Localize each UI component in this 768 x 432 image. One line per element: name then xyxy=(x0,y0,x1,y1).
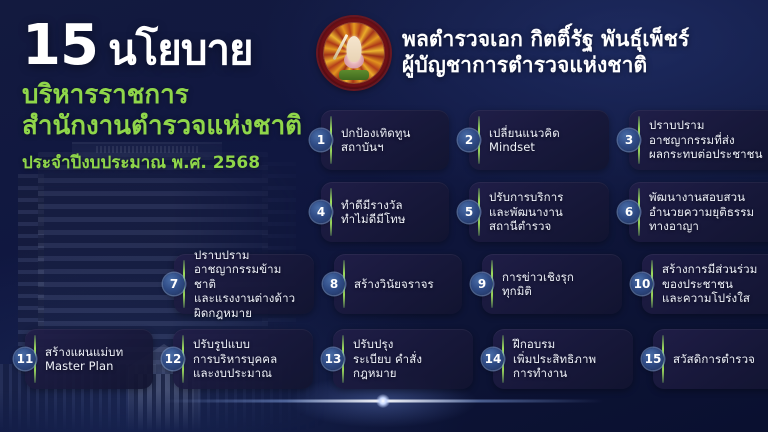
policy-card[interactable]: พัฒนางานสอบสวน อำนวยความยุติธรรม ทางอาญา xyxy=(629,182,768,242)
policy-item-8[interactable]: 8 สร้างวินัยจราจร xyxy=(323,254,462,314)
policy-title-word: นโยบาย xyxy=(108,29,253,71)
policy-number-badge: 5 xyxy=(458,201,480,223)
commander-header: พลตำรวจเอก กิตติ์รัฐ พันธุ์เพ็ชร์ ผู้บัญ… xyxy=(318,17,689,89)
lens-flare-core xyxy=(376,394,390,408)
policy-item-1[interactable]: 1 ปกป้องเทิดทูน สถาบันฯ xyxy=(310,110,449,170)
policy-item-5[interactable]: 5 ปรับการบริการ และพัฒนางาน สถานีตำรวจ xyxy=(458,182,609,242)
policy-card[interactable]: การข่าวเชิงรุก ทุกมิติ xyxy=(482,254,622,314)
policy-number-badge: 15 xyxy=(642,348,664,370)
policy-number-badge: 4 xyxy=(310,201,332,223)
policy-item-4[interactable]: 4 ทำดีมีรางวัล ทำไม่ดีมีโทษ xyxy=(310,182,449,242)
title-subtitle-line-2: สำนักงานตำรวจแห่งชาติ xyxy=(22,111,322,142)
policy-card[interactable]: ปกป้องเทิดทูน สถาบันฯ xyxy=(321,110,449,170)
commander-name: พลตำรวจเอก กิตติ์รัฐ พันธุ์เพ็ชร์ xyxy=(402,27,689,53)
policy-card[interactable]: สวัสดิการตำรวจ xyxy=(653,329,768,389)
policy-item-10[interactable]: 10 สร้างการมีส่วนร่วม ของประชาชน และความ… xyxy=(631,254,768,314)
emblem-outer-ring xyxy=(320,19,388,87)
policy-item-2[interactable]: 2 เปลี่ยนแนวคิด Mindset xyxy=(458,110,609,170)
policy-card[interactable]: สร้างการมีส่วนร่วม ของประชาชน และความโปร… xyxy=(642,254,768,314)
lens-flare-streak xyxy=(163,400,603,403)
policy-item-12[interactable]: 12 ปรับรูปแบบ การบริหารบุคคล และงบประมาณ xyxy=(162,329,313,389)
policy-number-badge: 7 xyxy=(163,273,185,295)
policy-number-badge: 3 xyxy=(618,129,640,151)
policy-card[interactable]: ฝึกอบรม เพิ่มประสิทธิภาพ การทำงาน xyxy=(493,329,633,389)
policy-item-11[interactable]: 11 สร้างแผนแม่บท Master Plan xyxy=(14,329,153,389)
policy-number-badge: 13 xyxy=(322,348,344,370)
policy-card-text: ปราบปราม อาชญากรรมข้ามชาติ และแรงงานต่าง… xyxy=(194,248,298,320)
policy-item-13[interactable]: 13 ปรับปรุง ระเบียบ คำสั่ง กฎหมาย xyxy=(322,329,473,389)
policy-card-text: ฝึกอบรม เพิ่มประสิทธิภาพ การทำงาน xyxy=(513,337,596,380)
policy-card-text: สวัสดิการตำรวจ xyxy=(673,352,755,366)
policy-number-badge: 10 xyxy=(631,273,653,295)
policy-count-number: 15 xyxy=(22,18,98,74)
page-title: 15 นโยบาย xyxy=(22,18,322,74)
policy-item-6[interactable]: 6 พัฒนางานสอบสวน อำนวยความยุติธรรม ทางอา… xyxy=(618,182,768,242)
policy-card[interactable]: ทำดีมีรางวัล ทำไม่ดีมีโทษ xyxy=(321,182,449,242)
policy-number-badge: 6 xyxy=(618,201,640,223)
policy-number-badge: 8 xyxy=(323,273,345,295)
policy-row-1: 1 ปกป้องเทิดทูน สถาบันฯ 2 เปลี่ยนแนวคิด … xyxy=(310,110,768,170)
policy-card[interactable]: ปรับรูปแบบ การบริหารบุคคล และงบประมาณ xyxy=(173,329,313,389)
fiscal-year-label: ประจำปีงบประมาณ พ.ศ. 2568 xyxy=(22,149,322,176)
policy-card[interactable]: ปรับปรุง ระเบียบ คำสั่ง กฎหมาย xyxy=(333,329,473,389)
infographic-poster: 15 นโยบาย บริหารราชการ สำนักงานตำรวจแห่ง… xyxy=(0,0,768,432)
policy-card[interactable]: สร้างวินัยจราจร xyxy=(334,254,462,314)
policy-item-3[interactable]: 3 ปราบปราม อาชญากรรมที่ส่ง ผลกระทบต่อประ… xyxy=(618,110,768,170)
policy-row-2: 4 ทำดีมีรางวัล ทำไม่ดีมีโทษ 5 ปรับการบริ… xyxy=(310,182,768,242)
policy-card-text: ปราบปราม อาชญากรรมที่ส่ง ผลกระทบต่อประชา… xyxy=(649,118,763,161)
poster-title-block: 15 นโยบาย บริหารราชการ สำนักงานตำรวจแห่ง… xyxy=(22,18,322,176)
policy-number-badge: 14 xyxy=(482,348,504,370)
policy-card-text: สร้างแผนแม่บท Master Plan xyxy=(45,345,123,374)
policy-card-text: การข่าวเชิงรุก ทุกมิติ xyxy=(502,270,574,299)
building-roof-band xyxy=(72,142,222,160)
policy-item-9[interactable]: 9 การข่าวเชิงรุก ทุกมิติ xyxy=(471,254,622,314)
policy-number-badge: 9 xyxy=(471,273,493,295)
policy-card[interactable]: เปลี่ยนแนวคิด Mindset xyxy=(469,110,609,170)
policy-card-text: สร้างวินัยจราจร xyxy=(354,277,434,291)
policy-card-text: ปรับการบริการ และพัฒนางาน สถานีตำรวจ xyxy=(489,190,564,233)
policy-card[interactable]: ปราบปราม อาชญากรรมข้ามชาติ และแรงงานต่าง… xyxy=(174,254,314,314)
policy-item-14[interactable]: 14 ฝึกอบรม เพิ่มประสิทธิภาพ การทำงาน xyxy=(482,329,633,389)
policy-row-4: 11 สร้างแผนแม่บท Master Plan 12 ปรับรูปแ… xyxy=(14,329,768,389)
policy-item-15[interactable]: 15 สวัสดิการตำรวจ xyxy=(642,329,768,389)
royal-thai-police-emblem-icon xyxy=(318,17,390,89)
policy-row-3: 7 ปราบปราม อาชญากรรมข้ามชาติ และแรงงานต่… xyxy=(163,254,768,314)
building-signage xyxy=(96,146,200,153)
policy-number-badge: 2 xyxy=(458,129,480,151)
policy-number-badge: 1 xyxy=(310,129,332,151)
policy-card-text: ปกป้องเทิดทูน สถาบันฯ xyxy=(341,126,411,155)
policy-number-badge: 11 xyxy=(14,348,36,370)
policy-card-text: ปรับปรุง ระเบียบ คำสั่ง กฎหมาย xyxy=(353,337,422,380)
policy-card-text: สร้างการมีส่วนร่วม ของประชาชน และความโปร… xyxy=(662,262,757,305)
policy-card-text: เปลี่ยนแนวคิด Mindset xyxy=(489,126,560,155)
policy-number-badge: 12 xyxy=(162,348,184,370)
policy-card[interactable]: สร้างแผนแม่บท Master Plan xyxy=(25,329,153,389)
policy-card-text: พัฒนางานสอบสวน อำนวยความยุติธรรม ทางอาญา xyxy=(649,190,754,233)
commander-text: พลตำรวจเอก กิตติ์รัฐ พันธุ์เพ็ชร์ ผู้บัญ… xyxy=(402,27,689,78)
policy-card[interactable]: ปรับการบริการ และพัฒนางาน สถานีตำรวจ xyxy=(469,182,609,242)
title-subtitle-line-1: บริหารราชการ xyxy=(22,80,322,111)
policy-card[interactable]: ปราบปราม อาชญากรรมที่ส่ง ผลกระทบต่อประชา… xyxy=(629,110,768,170)
policy-card-text: ปรับรูปแบบ การบริหารบุคคล และงบประมาณ xyxy=(193,337,277,380)
policy-item-7[interactable]: 7 ปราบปราม อาชญากรรมข้ามชาติ และแรงงานต่… xyxy=(163,254,314,314)
policy-card-text: ทำดีมีรางวัล ทำไม่ดีมีโทษ xyxy=(341,198,406,227)
commander-role: ผู้บัญชาการตำรวจแห่งชาติ xyxy=(402,53,689,79)
